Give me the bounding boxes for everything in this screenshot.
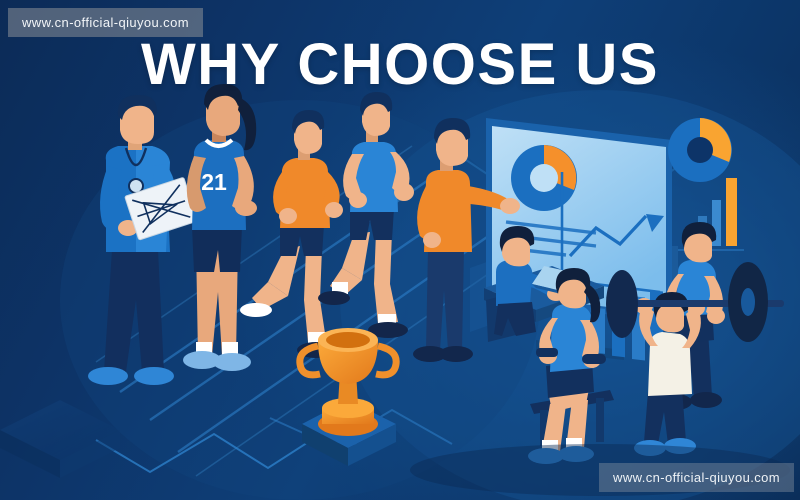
runner-orange (240, 110, 343, 358)
screen-donut-chart (511, 145, 577, 211)
trophy-handle-right (376, 346, 396, 375)
why-choose-us-banner: 21 (0, 0, 800, 500)
dumbbell-right (582, 354, 606, 364)
presenter-hand (500, 198, 520, 214)
watermark-top-left: www.cn-official-qiuyou.com (8, 8, 203, 37)
dumbbell-left (536, 348, 558, 357)
trophy (300, 328, 396, 466)
page-title: WHY CHOOSE US (0, 36, 800, 94)
coach (88, 95, 198, 385)
jersey-number: 21 (201, 169, 227, 195)
ponytail (238, 98, 256, 150)
watermark-bottom-right: www.cn-official-qiuyou.com (599, 463, 794, 492)
athlete-jersey: 21 (183, 84, 257, 371)
floating-donut-chart (668, 118, 732, 182)
